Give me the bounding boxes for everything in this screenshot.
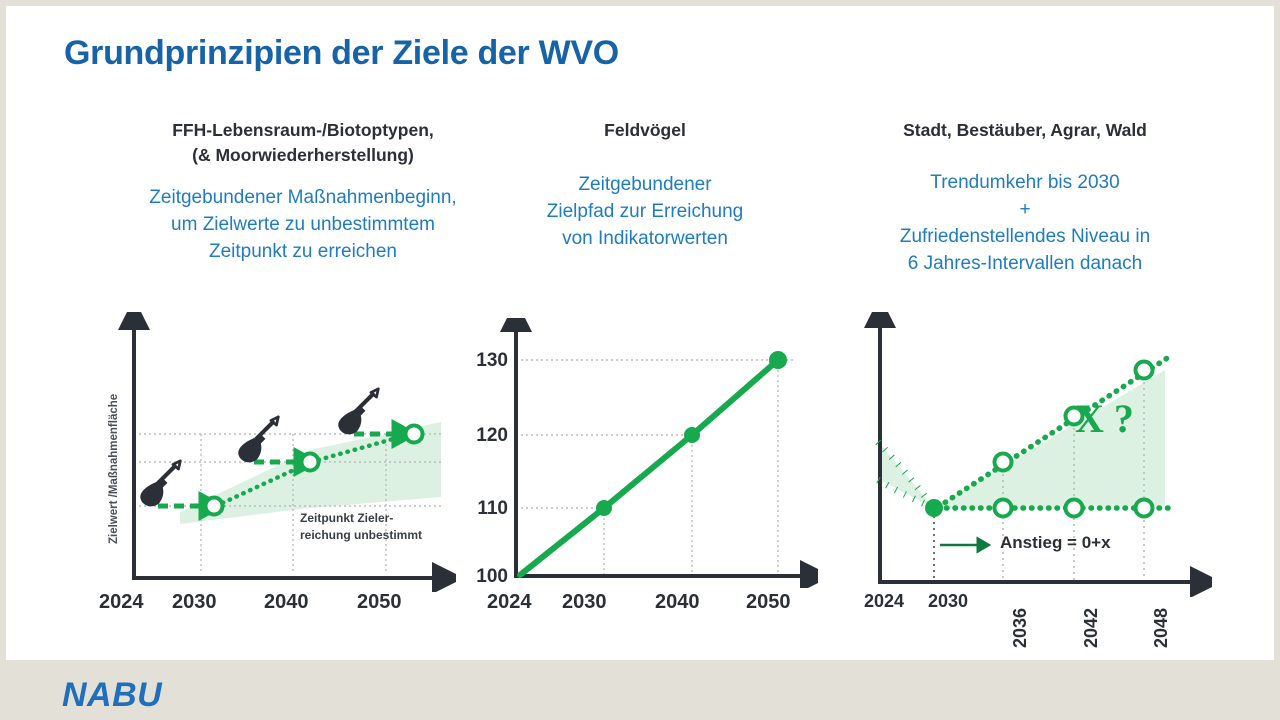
chart-stadt-point-flat [995, 500, 1012, 517]
chart-feldvoegel-xtick-2024: 2024 [487, 591, 532, 614]
chart-stadt-point-rising [995, 454, 1012, 471]
chart-feldvoegel-ytick-130: 130 [466, 350, 508, 372]
chart-stadt-xtick-2030: 2030 [928, 591, 968, 612]
chart-feldvoegel-point [769, 351, 787, 369]
column-ffh-subtitle: Zeitgebundener Maßnahmenbeginn, um Zielw… [68, 184, 538, 265]
chart-feldvoegel-xtick-2030: 2030 [562, 591, 607, 614]
column-stadt-sub-line4: 6 Jahres-Intervallen danach [830, 250, 1220, 277]
nabu-logo: NABU [62, 676, 162, 715]
column-stadt-sub-line2: + [830, 196, 1220, 223]
chart-ffh-svg [96, 312, 456, 592]
chart-ffh-xtick-2050: 2050 [357, 591, 402, 614]
column-feldvoegel-heading: Feldvögel [500, 118, 790, 143]
column-stadt-heading-line1: Stadt, Bestäuber, Agrar, Wald [830, 118, 1220, 143]
column-feldvoegel: Feldvögel Zeitgebundener Zielpfad zur Er… [500, 118, 790, 252]
shovel-icon [140, 461, 180, 507]
slide: Grundprinzipien der Ziele der WVO FFH-Le… [0, 0, 1280, 720]
column-ffh-heading-line1: FFH-Lebensraum-/Biotoptypen, [68, 118, 538, 143]
chart-stadt-xtick-2036: 2036 [1010, 608, 1031, 648]
column-ffh-heading: FFH-Lebensraum-/Biotoptypen, (& Moorwied… [68, 118, 538, 168]
column-feldvoegel-heading-line1: Feldvögel [500, 118, 790, 143]
chart-feldvoegel-line [520, 360, 778, 575]
column-stadt-sub-line1: Trendumkehr bis 2030 [830, 169, 1220, 196]
chart-stadt-svg [862, 312, 1212, 597]
chart-ffh-point [406, 426, 423, 443]
column-ffh-sub-line3: Zeitpunkt zu erreichen [68, 238, 538, 265]
chart-stadt-anstieg-label: Anstieg = 0+x [1000, 533, 1111, 553]
chart-ffh-xtick-2030: 2030 [172, 591, 217, 614]
column-ffh-heading-line2: (& Moorwiederherstellung) [68, 143, 538, 168]
column-stadt-subtitle: Trendumkehr bis 2030 + Zufriedenstellend… [830, 169, 1220, 277]
column-stadt-sub-line3: Zufriedenstellendes Niveau in [830, 223, 1220, 250]
chart-feldvoegel-point [684, 427, 700, 443]
chart-stadt-x-question-label: X ? [1075, 395, 1134, 442]
chart-feldvoegel-ytick-110: 110 [466, 498, 508, 520]
chart-feldvoegel-ytick-120: 120 [466, 425, 508, 447]
chart-stadt-xtick-2048: 2048 [1151, 608, 1172, 648]
chart-ffh-annotation: Zeitpunkt Zieler- reichung unbestimmt [300, 510, 422, 544]
shovel-icon [238, 417, 278, 463]
chart-feldvoegel-point [596, 500, 612, 516]
column-feldvoegel-sub-line2: Zielpfad zur Erreichung [500, 198, 790, 225]
chart-ffh-y-axis-label: Zielwert /Maßnahmenfläche [108, 394, 120, 544]
column-ffh: FFH-Lebensraum-/Biotoptypen, (& Moorwied… [68, 118, 538, 265]
footer-bar [0, 660, 1280, 720]
column-stadt: Stadt, Bestäuber, Agrar, Wald Trendumkeh… [830, 118, 1220, 277]
chart-ffh [96, 312, 456, 592]
chart-stadt-xtick-2024: 2024 [864, 591, 904, 612]
column-stadt-heading: Stadt, Bestäuber, Agrar, Wald [830, 118, 1220, 143]
chart-feldvoegel-svg [478, 318, 818, 588]
chart-ffh-annotation-line2: reichung unbestimmt [300, 527, 422, 544]
shovel-icon [338, 389, 378, 435]
chart-ffh-xtick-2024: 2024 [99, 591, 144, 614]
column-ffh-sub-line2: um Zielwerte zu unbestimmtem [68, 211, 538, 238]
chart-feldvoegel-ytick-100: 100 [466, 566, 508, 588]
chart-ffh-annotation-line1: Zeitpunkt Zieler- [300, 510, 422, 527]
chart-stadt-point-rising [1136, 362, 1153, 379]
column-feldvoegel-subtitle: Zeitgebundener Zielpfad zur Erreichung v… [500, 171, 790, 252]
chart-feldvoegel [478, 318, 818, 588]
column-feldvoegel-sub-line1: Zeitgebundener [500, 171, 790, 198]
chart-stadt-point-2030 [925, 499, 943, 517]
chart-stadt-xtick-2042: 2042 [1081, 608, 1102, 648]
chart-ffh-point [206, 498, 223, 515]
chart-stadt-shaded-left [880, 444, 934, 508]
chart-ffh-point [302, 454, 319, 471]
chart-stadt-point-flat [1136, 500, 1153, 517]
chart-ffh-xtick-2040: 2040 [264, 591, 309, 614]
column-ffh-sub-line1: Zeitgebundener Maßnahmenbeginn, [68, 184, 538, 211]
chart-feldvoegel-xtick-2040: 2040 [655, 591, 700, 614]
column-feldvoegel-sub-line3: von Indikatorwerten [500, 225, 790, 252]
chart-stadt-point-flat [1066, 500, 1083, 517]
page-title: Grundprinzipien der Ziele der WVO [64, 34, 619, 73]
chart-stadt [862, 312, 1212, 597]
chart-feldvoegel-xtick-2050: 2050 [746, 591, 791, 614]
